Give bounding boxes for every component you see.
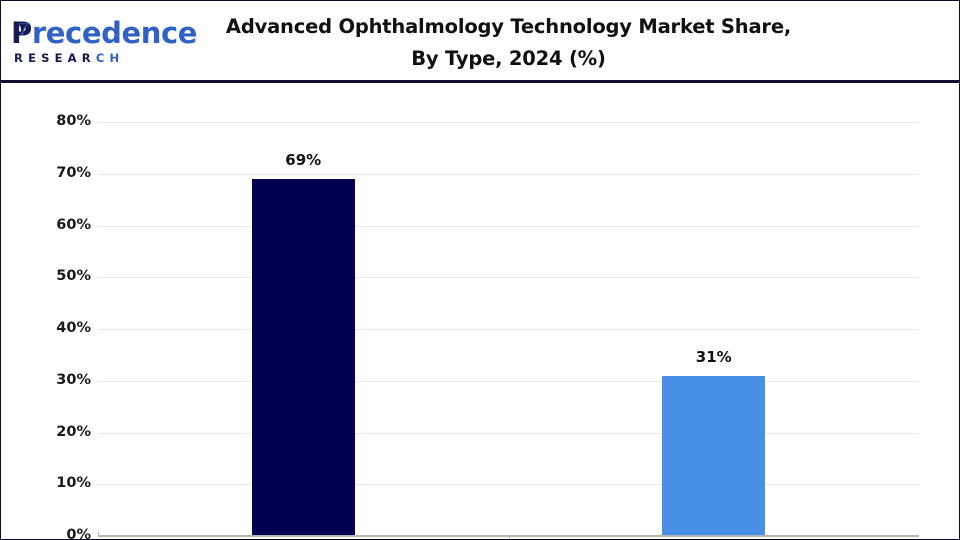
y-axis-tick-label: 80% — [35, 113, 91, 129]
gridline-80 — [98, 122, 919, 123]
logo-wordmark-rest: recedence — [32, 16, 197, 50]
gridline-60 — [98, 226, 919, 227]
y-axis-tick-label: 30% — [35, 372, 91, 388]
y-axis-tick-label: 20% — [35, 424, 91, 440]
logo-sub-r2: R — [82, 51, 96, 65]
logo-sub-e1: E — [28, 51, 41, 65]
chart-plot-area: 80%70%60%50%40%30%20%10%0% PoweredNon-po… — [1, 83, 959, 538]
plot-canvas — [98, 122, 919, 536]
bar-powered[interactable] — [252, 179, 355, 536]
logo-sub-h: H — [109, 51, 124, 65]
logo-sub-c: C — [96, 51, 110, 65]
gridline-10 — [98, 484, 919, 485]
gridline-50 — [98, 277, 919, 278]
y-axis-tick-label: 10% — [35, 475, 91, 491]
precedence-research-logo: Precedence RESEARCH — [11, 18, 176, 68]
logo-sub-s: S — [41, 51, 54, 65]
chart-title: Advanced Ophthalmology Technology Market… — [221, 11, 796, 75]
logo-wordmark: Precedence — [11, 18, 197, 48]
logo-subtitle: RESEARCH — [14, 51, 124, 65]
logo-sub-a: A — [68, 51, 82, 65]
y-axis-tick-label: 60% — [35, 217, 91, 233]
bar-value-label: 31% — [654, 348, 774, 366]
bar-value-label: 69% — [243, 151, 363, 169]
leaf-icon — [17, 22, 32, 37]
y-axis-labels: 80%70%60%50%40%30%20%10%0% — [29, 83, 91, 538]
gridline-30 — [98, 381, 919, 382]
y-axis-tick-label: 50% — [35, 268, 91, 284]
logo-sub-r1: R — [14, 51, 28, 65]
y-axis-tick-label: 0% — [35, 527, 91, 540]
chart-header: Precedence RESEARCH Advanced Ophthalmolo… — [1, 1, 959, 83]
x-axis-origin-tick — [98, 532, 99, 537]
bar-non-powered[interactable] — [662, 376, 765, 536]
y-axis-tick-label: 40% — [35, 320, 91, 336]
gridline-40 — [98, 329, 919, 330]
gridline-20 — [98, 433, 919, 434]
gridline-70 — [98, 174, 919, 175]
logo-sub-e2: E — [55, 51, 68, 65]
y-axis-tick-label: 70% — [35, 165, 91, 181]
chart-image: Precedence RESEARCH Advanced Ophthalmolo… — [0, 0, 960, 540]
